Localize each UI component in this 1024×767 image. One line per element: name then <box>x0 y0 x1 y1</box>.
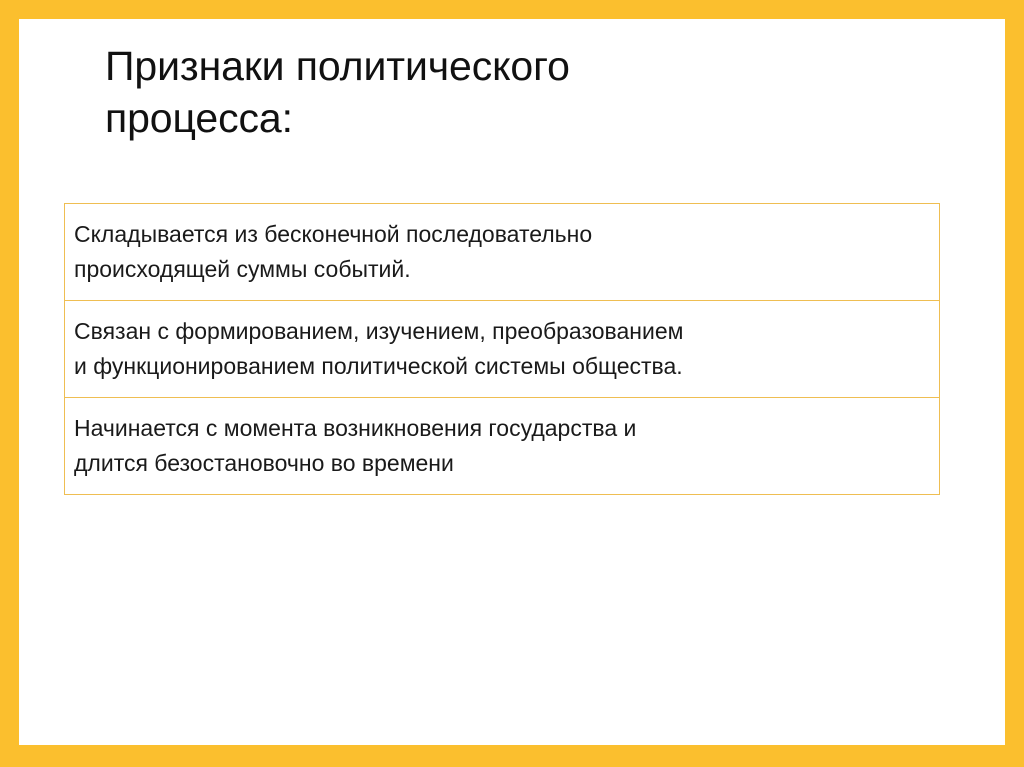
page-title: Признаки политического процесса: <box>105 40 925 144</box>
table-row-text: Начинается с момента возникновения госуд… <box>74 411 930 481</box>
page-title-line-1: Признаки политического <box>105 40 925 92</box>
table-row-text: Связан с формированием, изучением, преоб… <box>74 314 930 384</box>
page-title-line-2: процесса: <box>105 92 925 144</box>
table-row: Связан с формированием, изучением, преоб… <box>65 301 939 398</box>
table-row: Начинается с момента возникновения госуд… <box>65 398 939 494</box>
table-row: Складывается из бесконечной последовател… <box>65 204 939 301</box>
table-row-text: Складывается из бесконечной последовател… <box>74 217 930 287</box>
slide-canvas: Признаки политического процесса: Складыв… <box>19 19 1005 745</box>
facts-table: Складывается из бесконечной последовател… <box>64 203 940 495</box>
slide-frame: Признаки политического процесса: Складыв… <box>0 0 1024 767</box>
